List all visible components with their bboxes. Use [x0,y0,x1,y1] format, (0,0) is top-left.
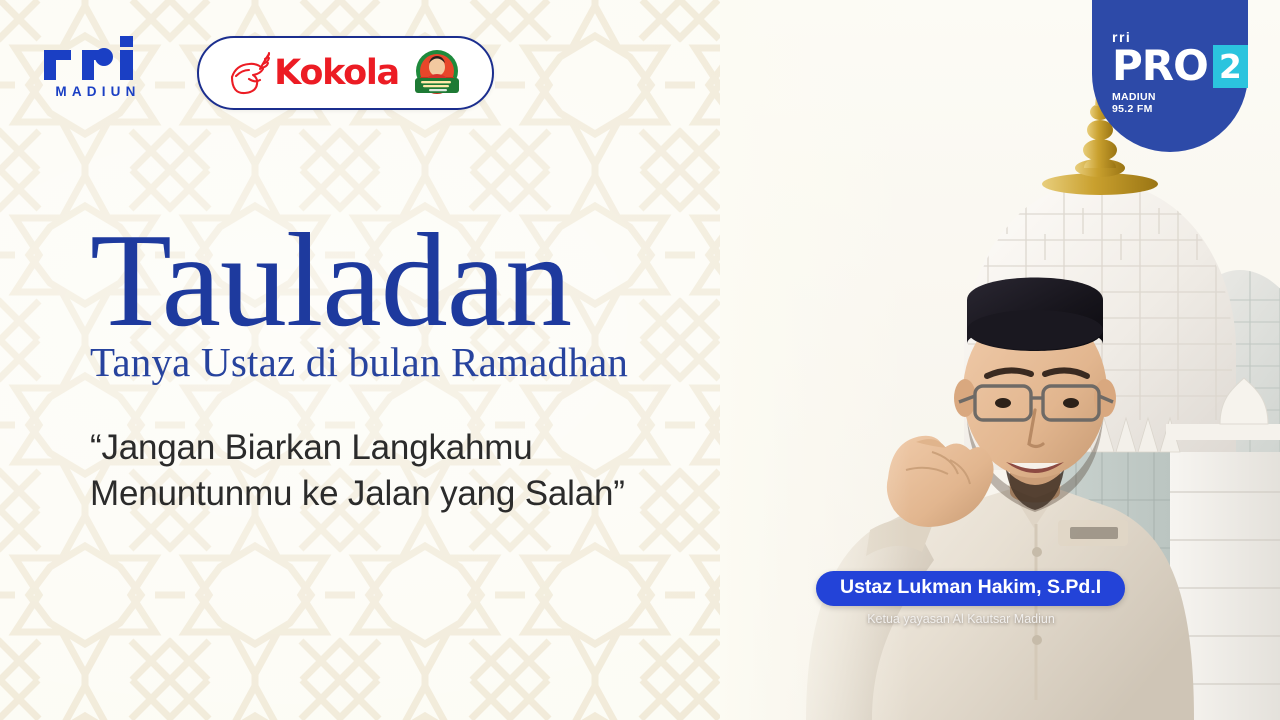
sambal-brand-badge-icon [409,47,465,99]
program-title: Tauladan [90,218,790,344]
channel-badge-pro2: rri PRO 2 MADIUN 95.2 FM [1092,0,1248,152]
broadcast-graphic-canvas: MADIUN Kokola [0,0,1280,720]
speaker-role: Ketua yayasan Al Kautsar Madiun [816,612,1106,627]
sponsor-secondary-logo [409,47,465,99]
channel-number-label: 2 [1213,45,1248,88]
sponsor-badge: Kokola [197,36,494,110]
rri-madiun-logo: MADIUN [42,36,154,99]
rri-logo-icon [42,36,154,82]
program-text-block: Tauladan Tanya Ustaz di bulan Ramadhan “… [90,218,790,517]
rri-station-city: MADIUN [42,85,154,99]
channel-city-label: MADIUN [1112,91,1248,103]
kokola-wordmark: Kokola [274,56,399,91]
channel-name-label: PRO [1112,48,1208,85]
speaker-nameplate: Ustaz Lukman Hakim, S.Pd.I Ketua yayasan… [816,571,1106,627]
channel-frequency-label: 95.2 FM [1112,103,1248,115]
dove-wheat-icon [226,51,274,95]
program-subtitle: Tanya Ustaz di bulan Ramadhan [90,340,790,385]
speaker-name: Ustaz Lukman Hakim, S.Pd.I [816,571,1125,606]
program-quote: “Jangan Biarkan Langkahmu Menuntunmu ke … [90,425,790,517]
kokola-logo: Kokola [226,51,399,95]
